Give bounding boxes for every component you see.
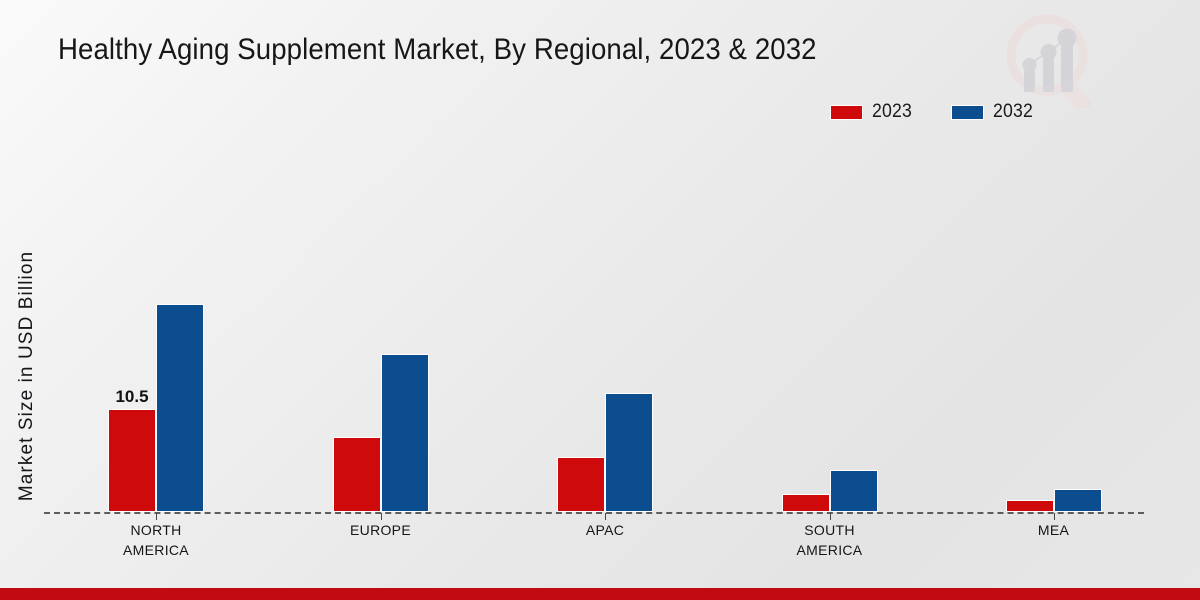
legend-item-2023[interactable]: 2023 xyxy=(830,101,915,123)
legend-item-2032[interactable]: 2032 xyxy=(951,101,1036,123)
x-tick-label-line: APAC xyxy=(525,520,685,540)
bar-value-label-2023-0: 10.5 xyxy=(102,387,162,407)
bar-2023-0[interactable] xyxy=(108,409,156,512)
legend-swatch-2023-icon xyxy=(830,105,863,120)
x-tick-mark-3 xyxy=(830,513,831,520)
bar-2023-3[interactable] xyxy=(782,494,830,512)
x-tick-label-line: NORTH xyxy=(76,520,236,540)
bar-2023-2[interactable] xyxy=(557,457,605,512)
chart-container: Healthy Aging Supplement Market, By Regi… xyxy=(0,0,1200,600)
legend-label-2032: 2032 xyxy=(993,101,1033,123)
x-tick-label-0: NORTHAMERICA xyxy=(76,520,236,560)
x-tick-label-2: APAC xyxy=(525,520,685,540)
x-tick-label-line: MEA xyxy=(974,520,1134,540)
x-tick-label-1: EUROPE xyxy=(301,520,461,540)
bar-2032-0[interactable] xyxy=(156,304,204,512)
x-tick-mark-4 xyxy=(1054,513,1055,520)
magnifying-glass-bar-chart-icon xyxy=(1004,8,1100,108)
bar-2032-2[interactable] xyxy=(605,393,653,512)
bar-2032-1[interactable] xyxy=(381,354,429,512)
x-tick-label-4: MEA xyxy=(974,520,1134,540)
bar-2023-4[interactable] xyxy=(1006,500,1054,512)
x-tick-label-3: SOUTHAMERICA xyxy=(750,520,910,560)
x-tick-label-line: EUROPE xyxy=(301,520,461,540)
chart-legend: 2023 2032 xyxy=(830,101,1036,123)
watermark-logo xyxy=(1004,8,1100,108)
x-axis-baseline xyxy=(44,512,1144,514)
x-tick-mark-0 xyxy=(156,513,157,520)
x-tick-label-line: AMERICA xyxy=(750,540,910,560)
legend-swatch-2032-icon xyxy=(951,105,984,120)
x-tick-mark-2 xyxy=(605,513,606,520)
footer-accent-bar xyxy=(0,588,1200,600)
x-tick-mark-1 xyxy=(381,513,382,520)
bar-2032-4[interactable] xyxy=(1054,489,1102,512)
chart-title: Healthy Aging Supplement Market, By Regi… xyxy=(58,30,817,70)
bar-2032-3[interactable] xyxy=(830,470,878,512)
y-axis-title: Market Size in USD Billion xyxy=(16,211,38,541)
legend-label-2023: 2023 xyxy=(872,101,912,123)
x-tick-label-line: SOUTH xyxy=(750,520,910,540)
x-tick-label-line: AMERICA xyxy=(76,540,236,560)
bar-2023-1[interactable] xyxy=(333,437,381,512)
